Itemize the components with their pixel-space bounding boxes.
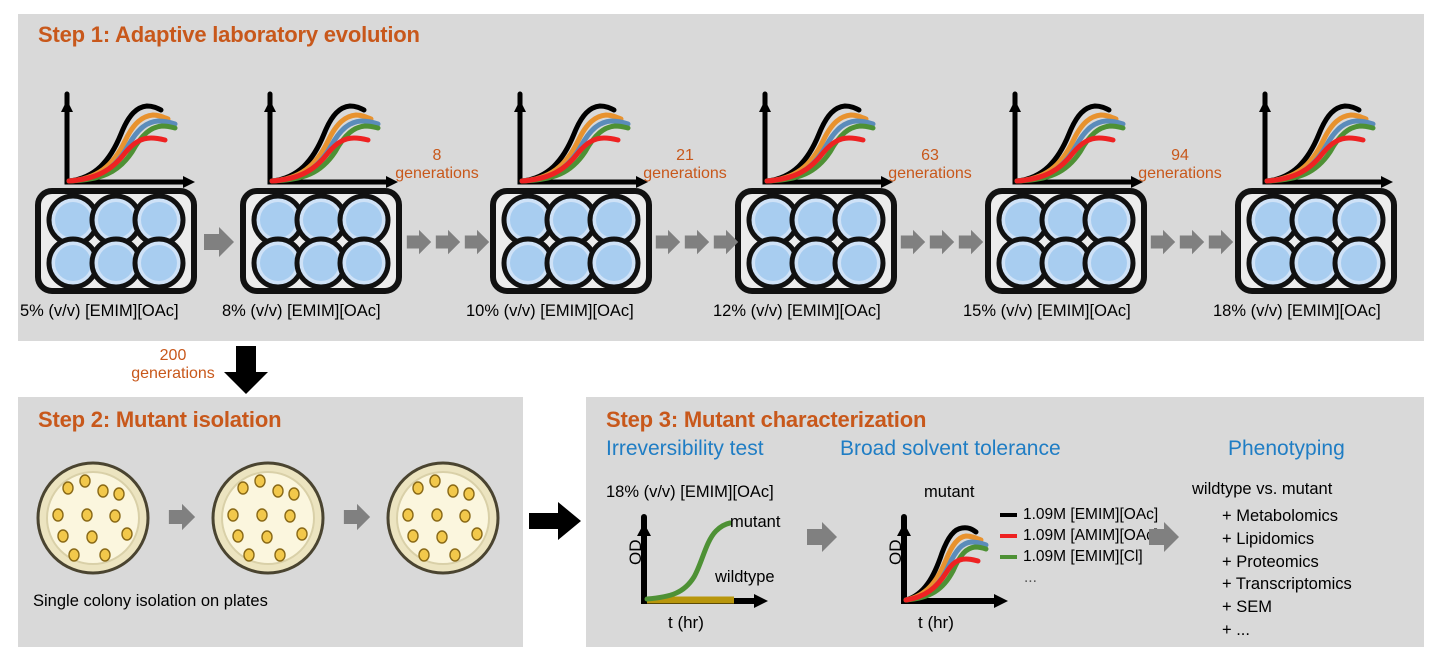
generations-label-1: 8 generations — [387, 147, 487, 184]
phenotyping-item-4: + Transcriptomics — [1222, 573, 1352, 596]
legend-swatch-red — [1000, 534, 1017, 538]
plate-transfer-arrow-2 — [343, 500, 371, 534]
arrow-right-icon — [684, 225, 710, 259]
arrow-right-icon — [713, 225, 739, 259]
growth-chart-stage-2 — [258, 86, 398, 194]
transfer-arrows-group-4 — [900, 225, 984, 259]
growth-chart-stage-5 — [1003, 86, 1143, 194]
transfer-arrows-group-5 — [1150, 225, 1234, 259]
well-plate-4 — [735, 188, 897, 294]
transition-generations-label: 200 generations — [118, 347, 228, 384]
legend-label: 1.09M [EMIM][OAc] — [1023, 506, 1158, 524]
irreversibility-wildtype-label: wildtype — [715, 568, 775, 587]
legend-item-3: 1.09M [EMIM][Cl] — [1000, 546, 1158, 567]
arrow-right-icon — [435, 225, 461, 259]
transition-generations-count: 200 — [118, 347, 228, 365]
arrow-right-icon — [343, 500, 371, 534]
phenotyping-item-1: + Metabolomics — [1222, 505, 1352, 528]
growth-chart-stage-3 — [508, 86, 648, 194]
step1-title: Step 1: Adaptive laboratory evolution — [38, 22, 420, 48]
arrow-right-icon — [1179, 225, 1205, 259]
transfer-arrows-group-2 — [406, 225, 490, 259]
irreversibility-ylabel: OD — [626, 540, 646, 566]
phenotyping-item-6: + ... — [1222, 619, 1352, 642]
petri-dish-2 — [208, 458, 328, 578]
irreversibility-condition: 18% (v/v) [EMIM][OAc] — [606, 483, 774, 502]
concentration-label-2: 8% (v/v) [EMIM][OAc] — [222, 302, 381, 321]
arrow-down-icon — [222, 344, 270, 401]
transfer-arrows-group-1 — [203, 225, 235, 259]
generations-label-3: 63 generations — [880, 147, 980, 184]
growth-chart-stage-4 — [753, 86, 893, 194]
irreversibility-xlabel: t (hr) — [668, 613, 704, 633]
generations-count: 63 — [880, 147, 980, 165]
concentration-label-1: 5% (v/v) [EMIM][OAc] — [20, 302, 179, 321]
arrow-right-icon-large — [527, 500, 583, 547]
tolerance-ylabel: OD — [886, 540, 906, 566]
phenotyping-item-3: + Proteomics — [1222, 551, 1352, 574]
legend-label: 1.09M [AMIM][OAc] — [1023, 527, 1158, 545]
step2-caption: Single colony isolation on plates — [33, 592, 268, 611]
phenotyping-item-5: + SEM — [1222, 596, 1352, 619]
step3-arrow-2 — [1148, 518, 1180, 556]
legend-item-1: 1.09M [EMIM][OAc] — [1000, 504, 1158, 525]
well-plate-1 — [35, 188, 197, 294]
concentration-label-6: 18% (v/v) [EMIM][OAc] — [1213, 302, 1381, 321]
petri-dish-1 — [33, 458, 153, 578]
generations-label-4: 94 generations — [1130, 147, 1230, 184]
arrow-right-icon — [168, 500, 196, 534]
petri-dish-3 — [383, 458, 503, 578]
legend-label: 1.09M [EMIM][Cl] — [1023, 548, 1143, 566]
generations-unit: generations — [387, 165, 487, 183]
tolerance-xlabel: t (hr) — [918, 613, 954, 633]
concentration-label-5: 15% (v/v) [EMIM][OAc] — [963, 302, 1131, 321]
phenotyping-items: + Metabolomics + Lipidomics + Proteomics… — [1222, 505, 1352, 642]
phenotyping-item-2: + Lipidomics — [1222, 528, 1352, 551]
concentration-label-4: 12% (v/v) [EMIM][OAc] — [713, 302, 881, 321]
generations-unit: generations — [1130, 165, 1230, 183]
well-plate-5 — [985, 188, 1147, 294]
step3-title: Step 3: Mutant characterization — [606, 407, 926, 433]
legend-item-2: 1.09M [AMIM][OAc] — [1000, 525, 1158, 546]
arrow-right-icon — [806, 518, 838, 556]
irreversibility-heading: Irreversibility test — [606, 437, 764, 461]
plate-transfer-arrow-1 — [168, 500, 196, 534]
growth-chart-stage-1 — [55, 86, 195, 194]
generations-count: 8 — [387, 147, 487, 165]
arrow-right-icon — [958, 225, 984, 259]
step3-arrow-1 — [806, 518, 838, 556]
generations-unit: generations — [635, 165, 735, 183]
arrow-right-icon — [1148, 518, 1180, 556]
legend-more-label: ... — [1024, 569, 1037, 587]
arrow-right-icon — [464, 225, 490, 259]
transition-generations-unit: generations — [118, 365, 228, 383]
well-plate-6 — [1235, 188, 1397, 294]
step2-title: Step 2: Mutant isolation — [38, 407, 281, 433]
phenotyping-comparison: wildtype vs. mutant — [1192, 480, 1332, 499]
irreversibility-mutant-label: mutant — [730, 513, 780, 532]
phenotyping-heading: Phenotyping — [1228, 437, 1345, 461]
growth-chart-stage-6 — [1253, 86, 1393, 194]
tolerance-legend: 1.09M [EMIM][OAc] 1.09M [AMIM][OAc] 1.09… — [1000, 504, 1158, 588]
tolerance-heading: Broad solvent tolerance — [840, 437, 1061, 461]
arrow-right-icon — [406, 225, 432, 259]
arrow-right-icon — [929, 225, 955, 259]
legend-swatch-green — [1000, 555, 1017, 559]
well-plate-2 — [240, 188, 402, 294]
generations-count: 94 — [1130, 147, 1230, 165]
generations-label-2: 21 generations — [635, 147, 735, 184]
arrow-right-icon — [900, 225, 926, 259]
generations-count: 21 — [635, 147, 735, 165]
legend-swatch-black — [1000, 513, 1017, 517]
arrow-right-icon — [1208, 225, 1234, 259]
well-plate-3 — [490, 188, 652, 294]
legend-item-more: ... — [1000, 567, 1158, 588]
concentration-label-3: 10% (v/v) [EMIM][OAc] — [466, 302, 634, 321]
transfer-arrows-group-3 — [655, 225, 739, 259]
arrow-right-icon — [203, 225, 235, 259]
tolerance-sample-label: mutant — [924, 483, 974, 502]
arrow-right-icon — [1150, 225, 1176, 259]
arrow-right-icon — [655, 225, 681, 259]
generations-unit: generations — [880, 165, 980, 183]
